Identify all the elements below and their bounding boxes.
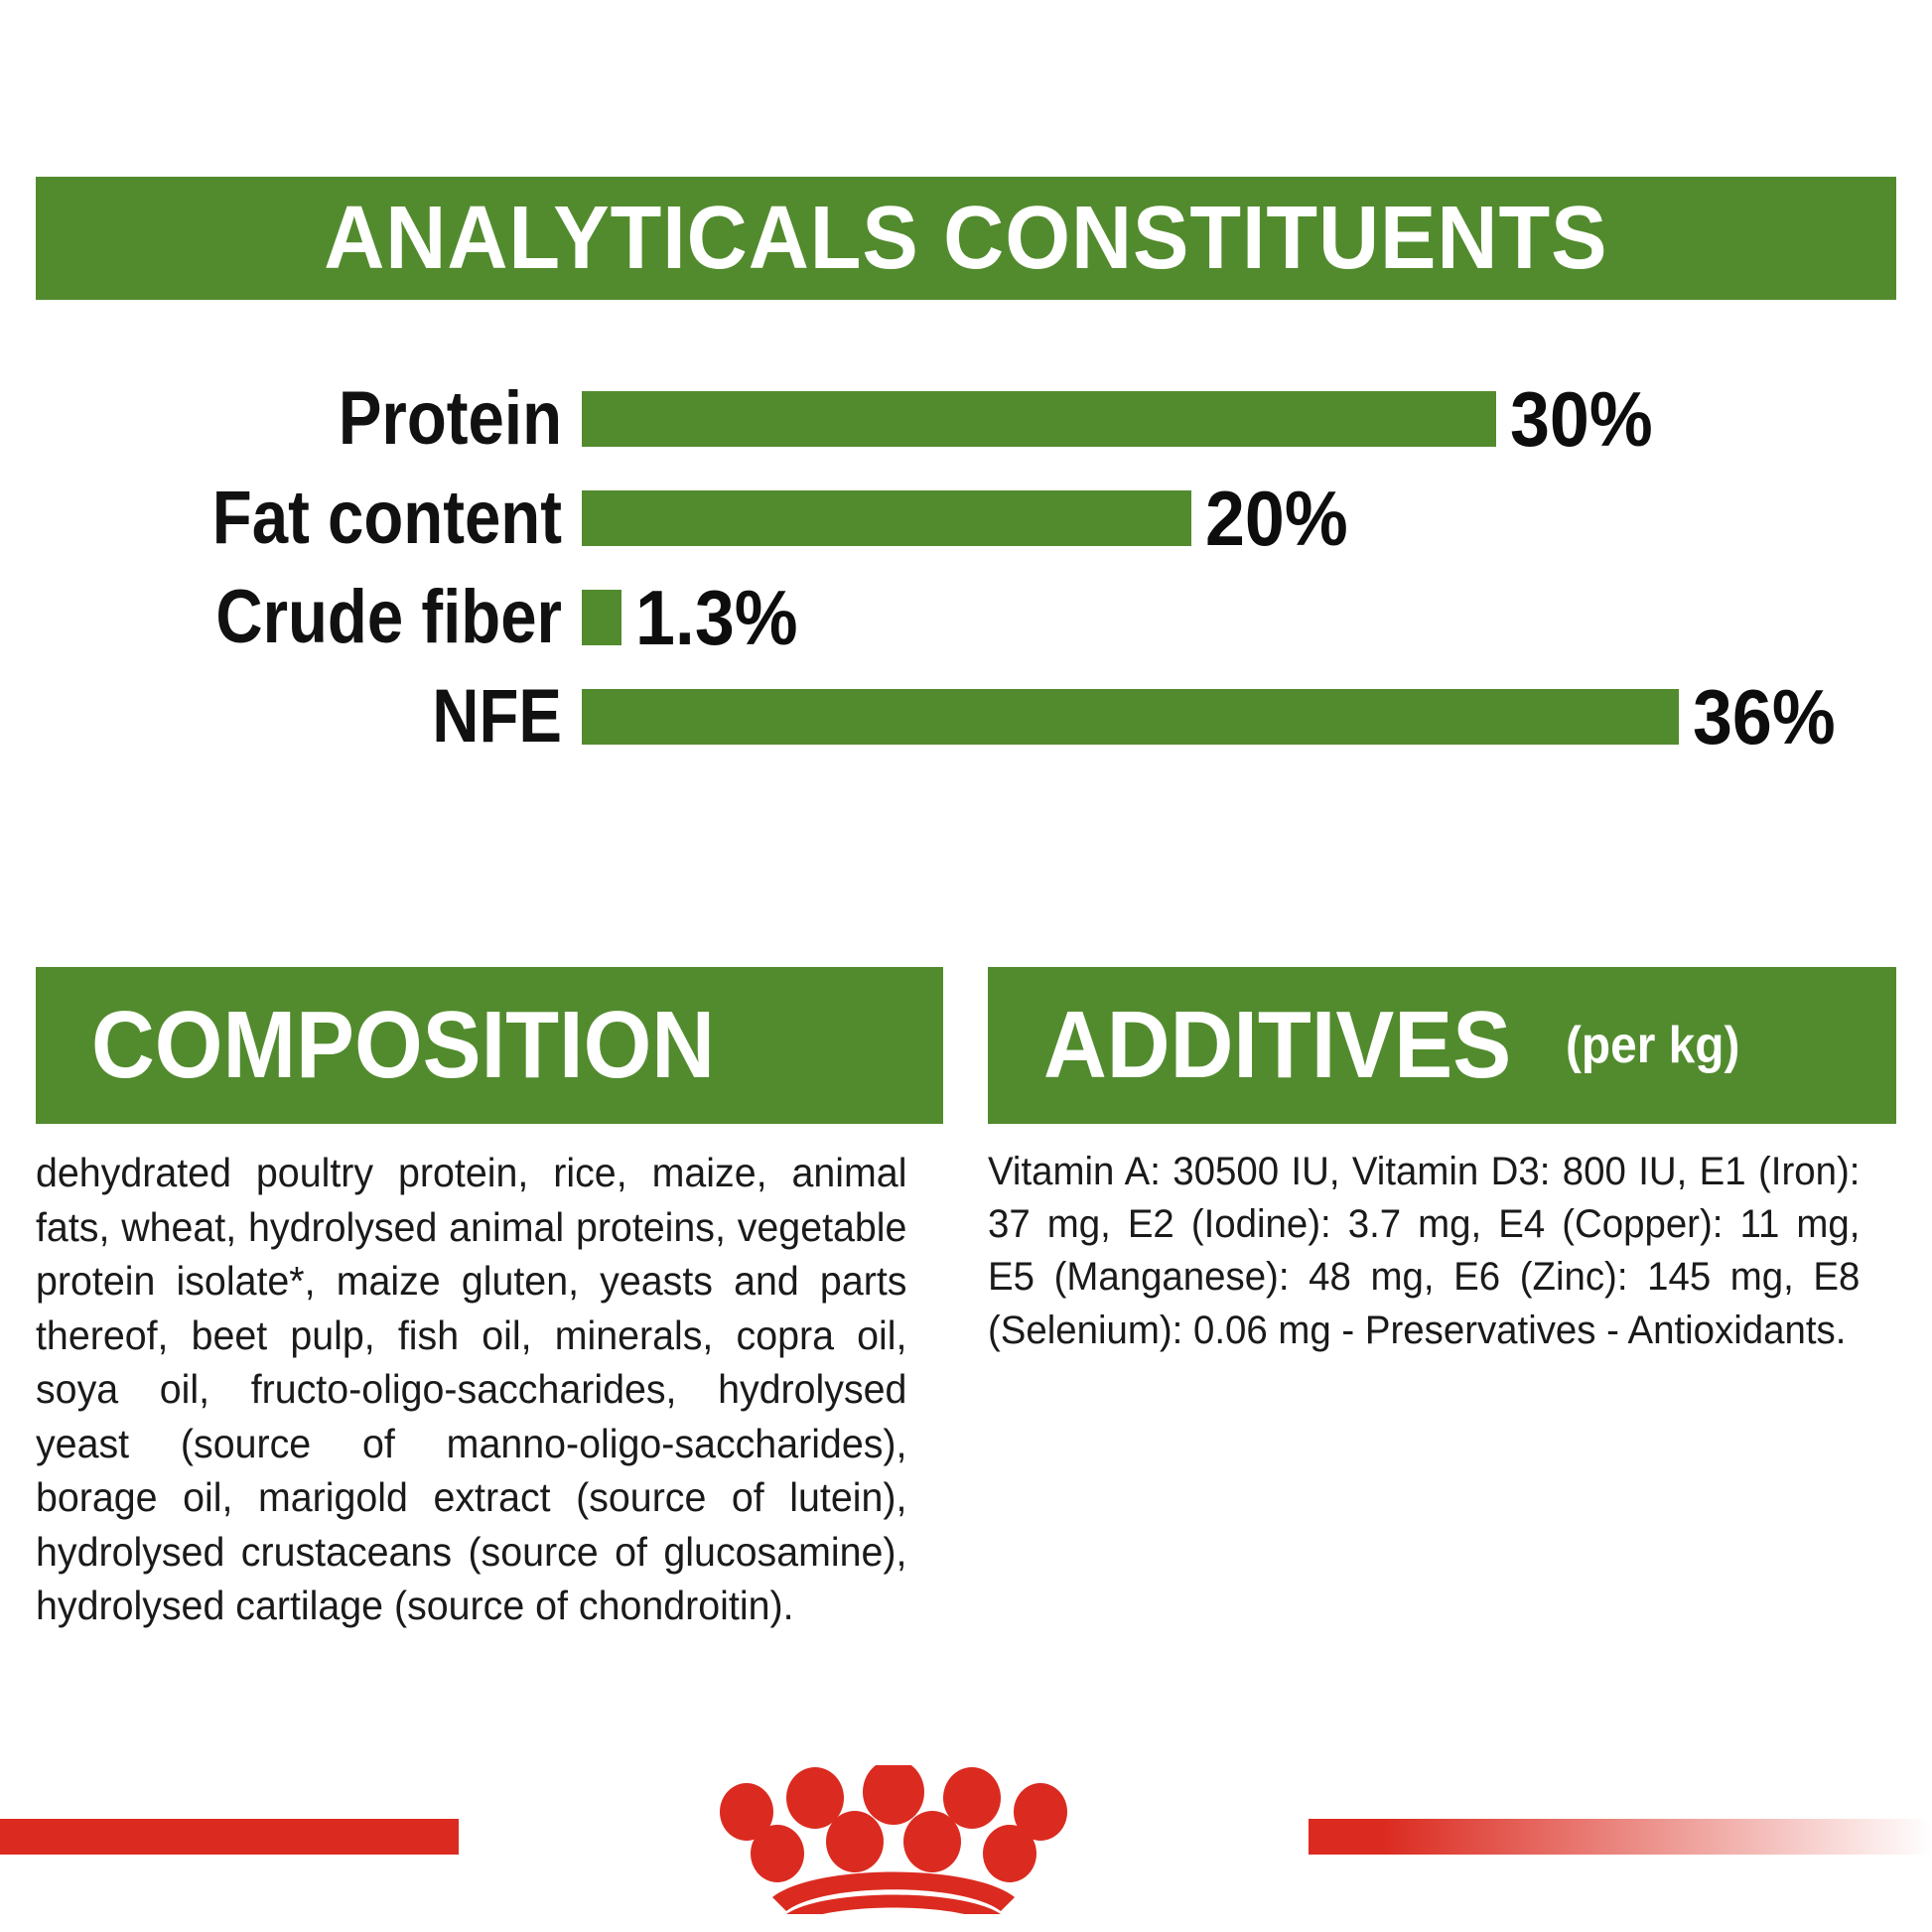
- bar-fill: [582, 391, 1496, 447]
- footer-rule-left: [0, 1819, 459, 1855]
- additives-header: ADDITIVES (per kg): [988, 967, 1896, 1124]
- bar-fill: [582, 590, 621, 645]
- additives-text: Vitamin A: 30500 IU, Vitamin D3: 800 IU,…: [988, 1146, 1860, 1357]
- bar-label: NFE: [78, 679, 562, 755]
- bar-value: 36%: [1693, 678, 1836, 756]
- bar-row: NFE36%: [0, 667, 1932, 766]
- bar-fill: [582, 490, 1191, 546]
- composition-heading-label: COMPOSITION: [91, 998, 715, 1093]
- bar-row: Crude fiber1.3%: [0, 568, 1932, 667]
- bar-row: Protein30%: [0, 369, 1932, 469]
- additives-per-kg-label: (per kg): [1566, 1020, 1739, 1071]
- bar-value: 20%: [1205, 480, 1348, 557]
- bar-label: Fat content: [78, 481, 562, 556]
- composition-text: dehydrated poultry protein, rice, maize,…: [36, 1146, 906, 1633]
- bar-label: Crude fiber: [78, 580, 562, 655]
- bar-label: Protein: [78, 381, 562, 457]
- brand-footer: [0, 1773, 1932, 1932]
- bar-value: 30%: [1510, 380, 1653, 458]
- bar-track: 20%: [582, 469, 1932, 568]
- analyticals-constituents-banner: ANALYTICALS CONSTITUENTS: [36, 177, 1896, 300]
- additives-heading-label: ADDITIVES: [1043, 998, 1511, 1093]
- footer-rule-right: [1309, 1819, 1932, 1855]
- bar-fill: [582, 689, 1679, 745]
- analyticals-bar-chart: Protein30%Fat content20%Crude fiber1.3%N…: [0, 369, 1932, 766]
- composition-panel: COMPOSITION dehydrated poultry protein, …: [36, 967, 943, 1633]
- bar-value: 1.3%: [635, 579, 798, 656]
- bar-track: 30%: [582, 369, 1932, 469]
- additives-panel: ADDITIVES (per kg) Vitamin A: 30500 IU, …: [988, 967, 1896, 1357]
- composition-header: COMPOSITION: [36, 967, 943, 1124]
- page-title: ANALYTICALS CONSTITUENTS: [324, 194, 1607, 283]
- royal-canin-crown-icon: [516, 1765, 1271, 1914]
- bar-row: Fat content20%: [0, 469, 1932, 568]
- bar-track: 36%: [582, 667, 1932, 766]
- bar-track: 1.3%: [582, 568, 1932, 667]
